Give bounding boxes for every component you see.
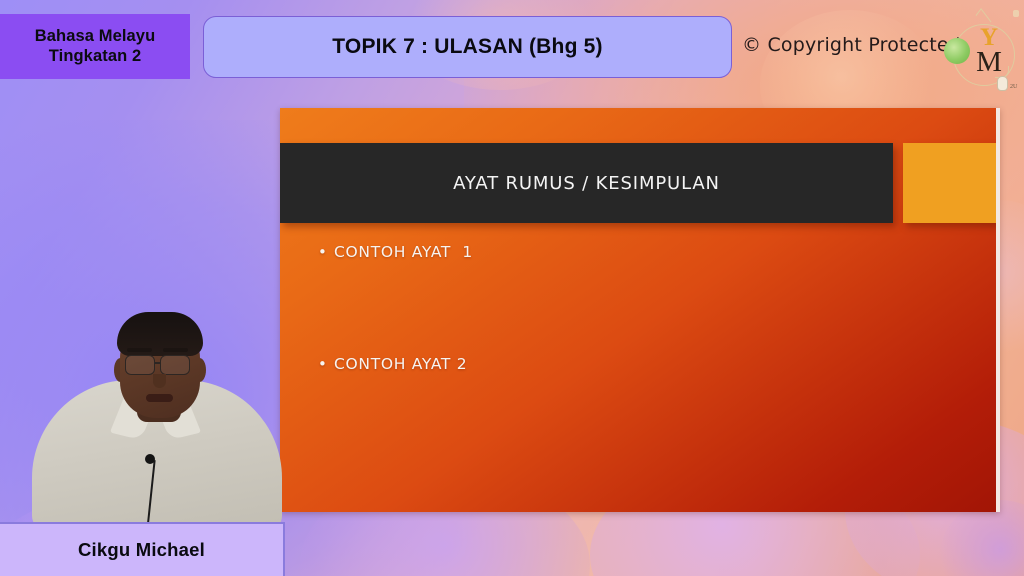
presenter-lapel-mic-icon [145,454,155,464]
copyright-notice: © Copyright Protected [742,34,961,56]
list-item: • CONTOH AYAT 1 [318,243,878,262]
accent-square [903,143,997,223]
bullet-text: CONTOH AYAT 2 [334,355,467,374]
bullet-dot-icon: • [318,355,334,373]
logo-mouse-icon [997,76,1008,91]
slide-header-bar: AYAT RUMUS / KESIMPULAN [280,143,893,223]
presenter-eyebrow-left [127,348,152,352]
bullet-dot-icon: • [318,243,334,261]
presenter-mouth [146,394,173,402]
presenter-eyebrow-right [163,348,188,352]
slide-bullet-list: • CONTOH AYAT 1 • CONTOH AYAT 2 [318,243,878,373]
logo-globe-icon [944,38,970,64]
subject-label-line1: Bahasa Melayu [35,27,156,46]
presenter-video [32,300,282,530]
topic-banner: TOPIK 7 : ULASAN (Bhg 5) [203,16,732,78]
logo-spark-icon [1013,10,1019,17]
presenter-name-text: Cikgu Michael [78,539,205,561]
slide-header-title: AYAT RUMUS / KESIMPULAN [453,173,720,194]
ym-logo: Y M 2U [937,8,1021,100]
subject-label-line2: Tingkatan 2 [49,47,142,66]
presenter-name-bar: Cikgu Michael [0,522,285,576]
logo-subtext: 2U [1010,84,1017,90]
topic-title: TOPIK 7 : ULASAN (Bhg 5) [332,35,602,59]
presenter-glasses-left [125,355,155,375]
presentation-slide: AYAT RUMUS / KESIMPULAN • CONTOH AYAT 1 … [280,108,1000,512]
presenter-glasses-bridge [155,362,161,364]
presenter-glasses-right [160,355,190,375]
bullet-text: CONTOH AYAT 1 [334,243,473,262]
subject-label: Bahasa Melayu Tingkatan 2 [0,14,190,79]
presenter-nose [153,374,166,388]
list-item: • CONTOH AYAT 2 [318,355,878,374]
